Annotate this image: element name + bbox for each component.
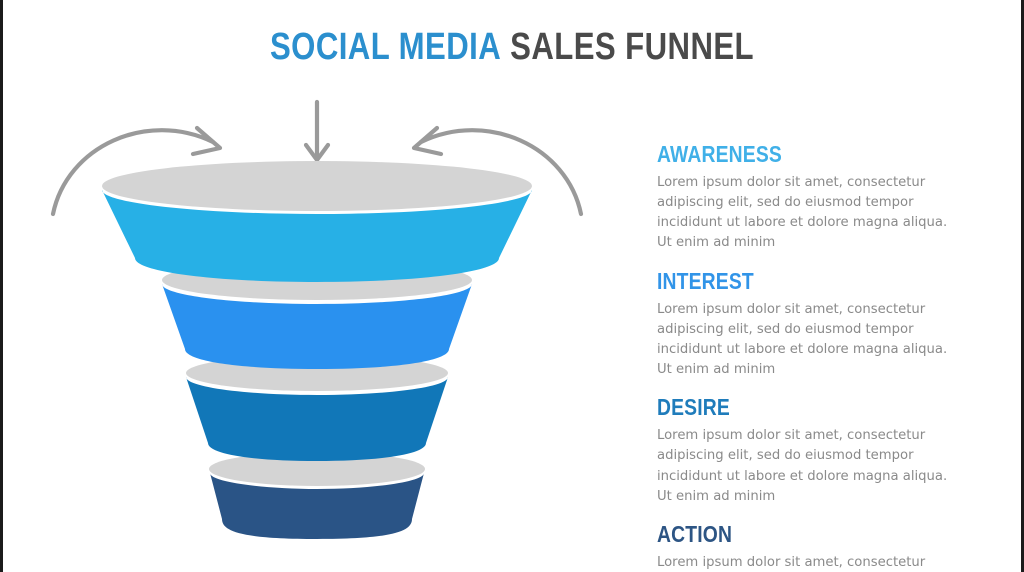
stage-list: AWARENESS Lorem ipsum dolor sit amet, co… <box>657 143 975 572</box>
stage-item-awareness[interactable]: AWARENESS Lorem ipsum dolor sit amet, co… <box>657 143 975 254</box>
funnel-diagram <box>27 88 607 558</box>
stage-body-action: Lorem ipsum dolor sit amet, consectetur … <box>657 553 962 572</box>
page-title: SOCIAL MEDIA SALES FUNNEL <box>95 28 930 66</box>
stage-body-interest: Lorem ipsum dolor sit amet, consectetur … <box>657 300 962 381</box>
funnel-segment-desire[interactable] <box>186 355 448 461</box>
stage-item-interest[interactable]: INTEREST Lorem ipsum dolor sit amet, con… <box>657 270 975 381</box>
stage-title-action: ACTION <box>657 523 924 547</box>
stage-title-interest: INTEREST <box>657 270 924 294</box>
funnel-segment-awareness[interactable] <box>102 161 532 282</box>
center-straight-arrow <box>306 102 328 160</box>
slide-canvas: SOCIAL MEDIA SALES FUNNEL <box>0 0 1024 572</box>
stage-title-awareness: AWARENESS <box>657 143 924 167</box>
stage-body-desire: Lorem ipsum dolor sit amet, consectetur … <box>657 426 962 507</box>
stage-item-desire[interactable]: DESIRE Lorem ipsum dolor sit amet, conse… <box>657 396 975 507</box>
funnel-rim-awareness <box>102 161 532 211</box>
page-title-highlight: SOCIAL MEDIA <box>270 26 501 68</box>
page-title-rest: SALES FUNNEL <box>510 26 754 68</box>
stage-item-action[interactable]: ACTION Lorem ipsum dolor sit amet, conse… <box>657 523 975 572</box>
stage-body-awareness: Lorem ipsum dolor sit amet, consectetur … <box>657 173 962 254</box>
funnel-segment-action[interactable] <box>209 452 425 539</box>
stage-title-desire: DESIRE <box>657 396 924 420</box>
